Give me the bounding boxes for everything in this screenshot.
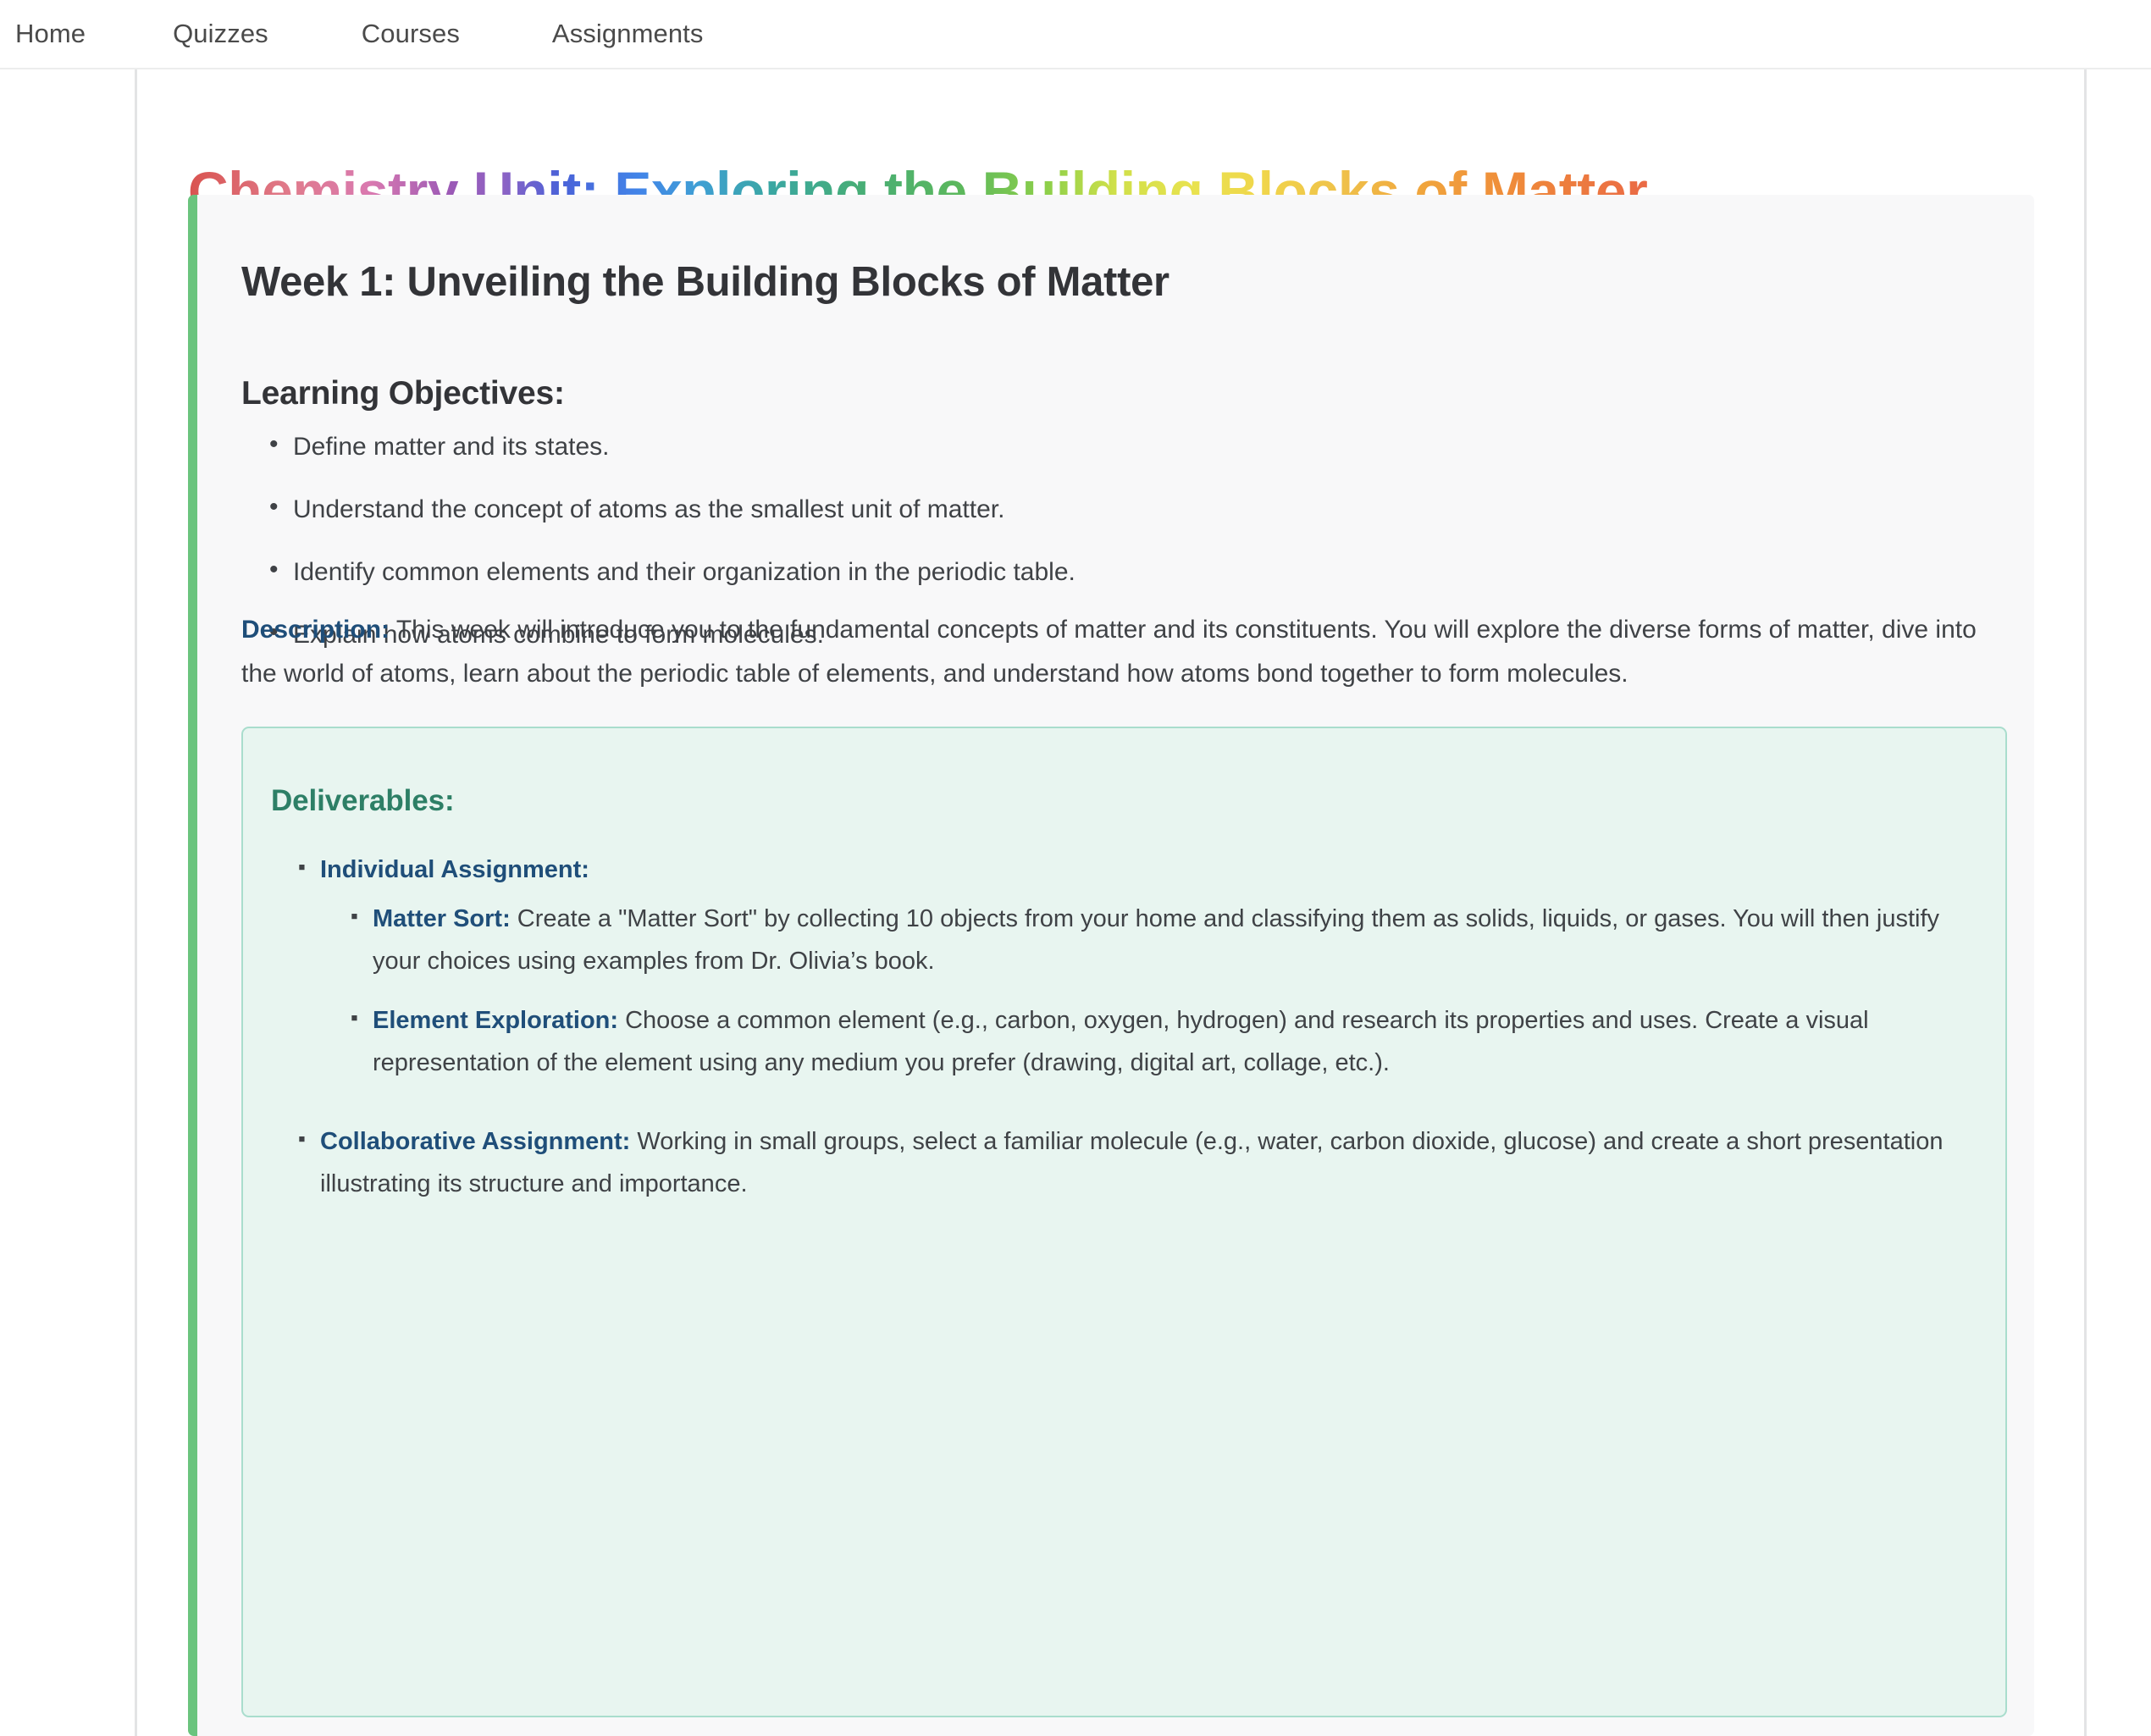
matter-sort-label: Matter Sort:: [373, 905, 511, 932]
top-navigation-bar: Home Quizzes Courses Assignments: [0, 0, 2151, 69]
description-label: Description:: [241, 616, 390, 644]
nav-item-courses[interactable]: Courses: [362, 19, 460, 49]
list-item-individual-assignment: Individual Assignment: Matter Sort: Crea…: [320, 849, 1973, 1116]
list-item: Identify common elements and their organ…: [293, 560, 1935, 585]
list-item: Understand the concept of atoms as the s…: [293, 497, 1935, 522]
nav-item-quizzes[interactable]: Quizzes: [173, 19, 268, 49]
deliverables-heading: Deliverables:: [271, 784, 455, 818]
matter-sort-body: Create a "Matter Sort" by collecting 10 …: [373, 905, 1939, 975]
deliverables-box: Deliverables: Individual Assignment: Mat…: [241, 727, 2007, 1717]
week-card: Week 1: Unveiling the Building Blocks of…: [188, 195, 2034, 1736]
list-item-collaborative-assignment: Collaborative Assignment: Working in sma…: [320, 1121, 1973, 1206]
nav-item-home[interactable]: Home: [15, 19, 86, 49]
page-content: Chemistry Unit: Exploring the Building B…: [137, 69, 2084, 1736]
right-divider-rule: [2084, 69, 2087, 1736]
list-item-element-exploration: Element Exploration: Choose a common ele…: [373, 1000, 1973, 1085]
individual-assignment-sublist: Matter Sort: Create a "Matter Sort" by c…: [320, 898, 1973, 1085]
list-spacer: [320, 1101, 1973, 1116]
list-item: Define matter and its states.: [293, 434, 1935, 460]
deliverables-list: Individual Assignment: Matter Sort: Crea…: [271, 849, 1973, 1211]
learning-objectives-heading: Learning Objectives:: [241, 375, 565, 412]
individual-assignment-label: Individual Assignment:: [320, 856, 589, 883]
week-heading: Week 1: Unveiling the Building Blocks of…: [241, 258, 1170, 306]
collaborative-assignment-label: Collaborative Assignment:: [320, 1128, 630, 1155]
element-exploration-label: Element Exploration:: [373, 1007, 618, 1034]
list-item-matter-sort: Matter Sort: Create a "Matter Sort" by c…: [373, 898, 1973, 983]
description-body: This week will introduce you to the fund…: [241, 616, 1977, 688]
nav-item-assignments[interactable]: Assignments: [552, 19, 704, 49]
description-paragraph: Description: This week will introduce yo…: [241, 608, 2014, 695]
